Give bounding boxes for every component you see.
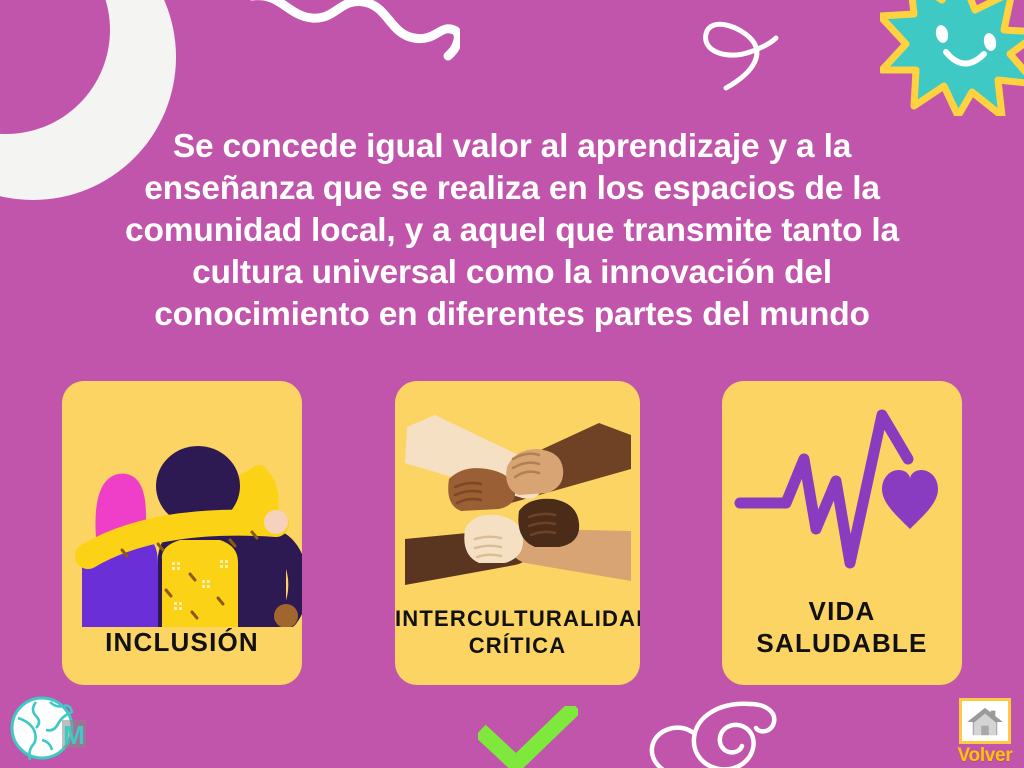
brand-logo-letter: M	[63, 720, 85, 750]
volver-label: Volver	[952, 745, 1018, 767]
smiling-starburst-icon	[880, 0, 1024, 116]
home-house-icon[interactable]	[959, 698, 1011, 744]
headline-text: Se concede igual valor al aprendizaje y …	[62, 126, 962, 336]
card-interculturalidad[interactable]: INTERCULTURALIDAD CRÍTICA	[395, 381, 640, 685]
three-people-hugging-illustration-icon	[62, 381, 302, 627]
heartbeat-ekg-heart-illustration-icon	[722, 381, 962, 595]
wavy-line-squiggle-icon	[250, 0, 460, 96]
ribbon-loop-curl-icon	[680, 4, 790, 94]
slide-canvas: Se concede igual valor al aprendizaje y …	[0, 0, 1024, 768]
card-inclusion[interactable]: INCLUSIÓN	[62, 381, 302, 685]
four-hands-interlocked-illustration-icon	[395, 381, 640, 605]
spiral-swirl-doodle-icon	[600, 694, 800, 768]
volver-button[interactable]: Volver	[952, 698, 1018, 767]
green-checkmark-icon	[478, 706, 578, 768]
card-label-interculturalidad: INTERCULTURALIDAD CRÍTICA	[395, 605, 640, 685]
brand-logo: M	[6, 694, 98, 764]
card-vida-saludable[interactable]: VIDA SALUDABLE	[722, 381, 962, 685]
card-label-inclusion: INCLUSIÓN	[62, 627, 302, 685]
card-label-vida-saludable: VIDA SALUDABLE	[722, 595, 962, 685]
